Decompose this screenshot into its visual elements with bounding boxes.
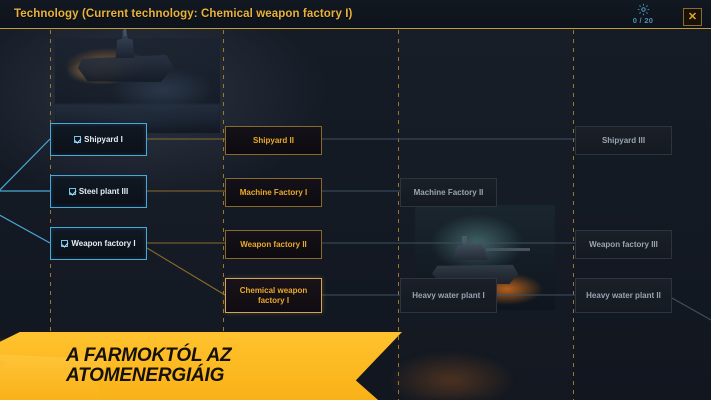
tech-node-shipyard-1[interactable]: Shipyard I bbox=[50, 123, 147, 156]
checkbox-icon bbox=[61, 240, 68, 247]
ember bbox=[22, 375, 27, 378]
tech-node-label: Weapon factory III bbox=[589, 240, 658, 250]
tech-node-heavy-water-plant-2[interactable]: Heavy water plant II bbox=[575, 278, 672, 313]
tank-hatch bbox=[462, 236, 467, 244]
tech-node-label: Weapon factory II bbox=[240, 240, 307, 250]
tech-node-label: Machine Factory II bbox=[414, 188, 484, 198]
research-points-meter[interactable]: 0 / 20 bbox=[621, 2, 665, 28]
tech-node-chemical-weapon-factory-1[interactable]: Chemical weapon factory I bbox=[225, 278, 322, 313]
tech-node-label: Heavy water plant II bbox=[586, 291, 661, 301]
tech-node-label: Weapon factory I bbox=[71, 239, 135, 249]
tech-node-label: Shipyard I bbox=[84, 135, 123, 145]
column-divider-4 bbox=[573, 30, 574, 400]
close-icon: ✕ bbox=[688, 12, 697, 23]
tech-node-heavy-water-plant-1[interactable]: Heavy water plant I bbox=[400, 278, 497, 313]
tech-node-weapon-factory-3[interactable]: Weapon factory III bbox=[575, 230, 672, 259]
column-divider-3 bbox=[398, 30, 399, 400]
page-title: Technology (Current technology: Chemical… bbox=[14, 8, 353, 20]
column-divider-1 bbox=[50, 30, 51, 400]
close-button[interactable]: ✕ bbox=[683, 8, 702, 26]
ember bbox=[58, 353, 65, 356]
tech-node-machine-factory-2[interactable]: Machine Factory II bbox=[400, 178, 497, 207]
tech-node-label: Shipyard III bbox=[602, 136, 645, 146]
ember bbox=[8, 388, 17, 392]
technology-screen: Shipyard I Steel plant III Weapon factor… bbox=[0, 0, 711, 400]
tech-node-label: Heavy water plant I bbox=[412, 291, 484, 301]
window-header: Technology (Current technology: Chemical… bbox=[0, 0, 711, 29]
column-divider-2 bbox=[223, 30, 224, 400]
tech-node-label: Machine Factory I bbox=[240, 188, 308, 198]
tank-barrel bbox=[486, 248, 530, 251]
tech-node-machine-factory-1[interactable]: Machine Factory I bbox=[225, 178, 322, 207]
checkbox-icon bbox=[69, 188, 76, 195]
tech-node-shipyard-2[interactable]: Shipyard II bbox=[225, 126, 322, 155]
gear-icon bbox=[621, 2, 665, 17]
research-count: 0 / 20 bbox=[621, 16, 665, 25]
tech-node-label: Shipyard II bbox=[253, 136, 294, 146]
tech-node-weapon-factory-2[interactable]: Weapon factory II bbox=[225, 230, 322, 259]
tech-node-shipyard-3[interactable]: Shipyard III bbox=[575, 126, 672, 155]
tech-node-label: Chemical weapon factory I bbox=[231, 286, 316, 306]
tech-node-weapon-factory-1[interactable]: Weapon factory I bbox=[50, 227, 147, 260]
tech-node-steel-plant-3[interactable]: Steel plant III bbox=[50, 175, 147, 208]
tech-node-label: Steel plant III bbox=[79, 187, 128, 197]
checkbox-icon bbox=[74, 136, 81, 143]
